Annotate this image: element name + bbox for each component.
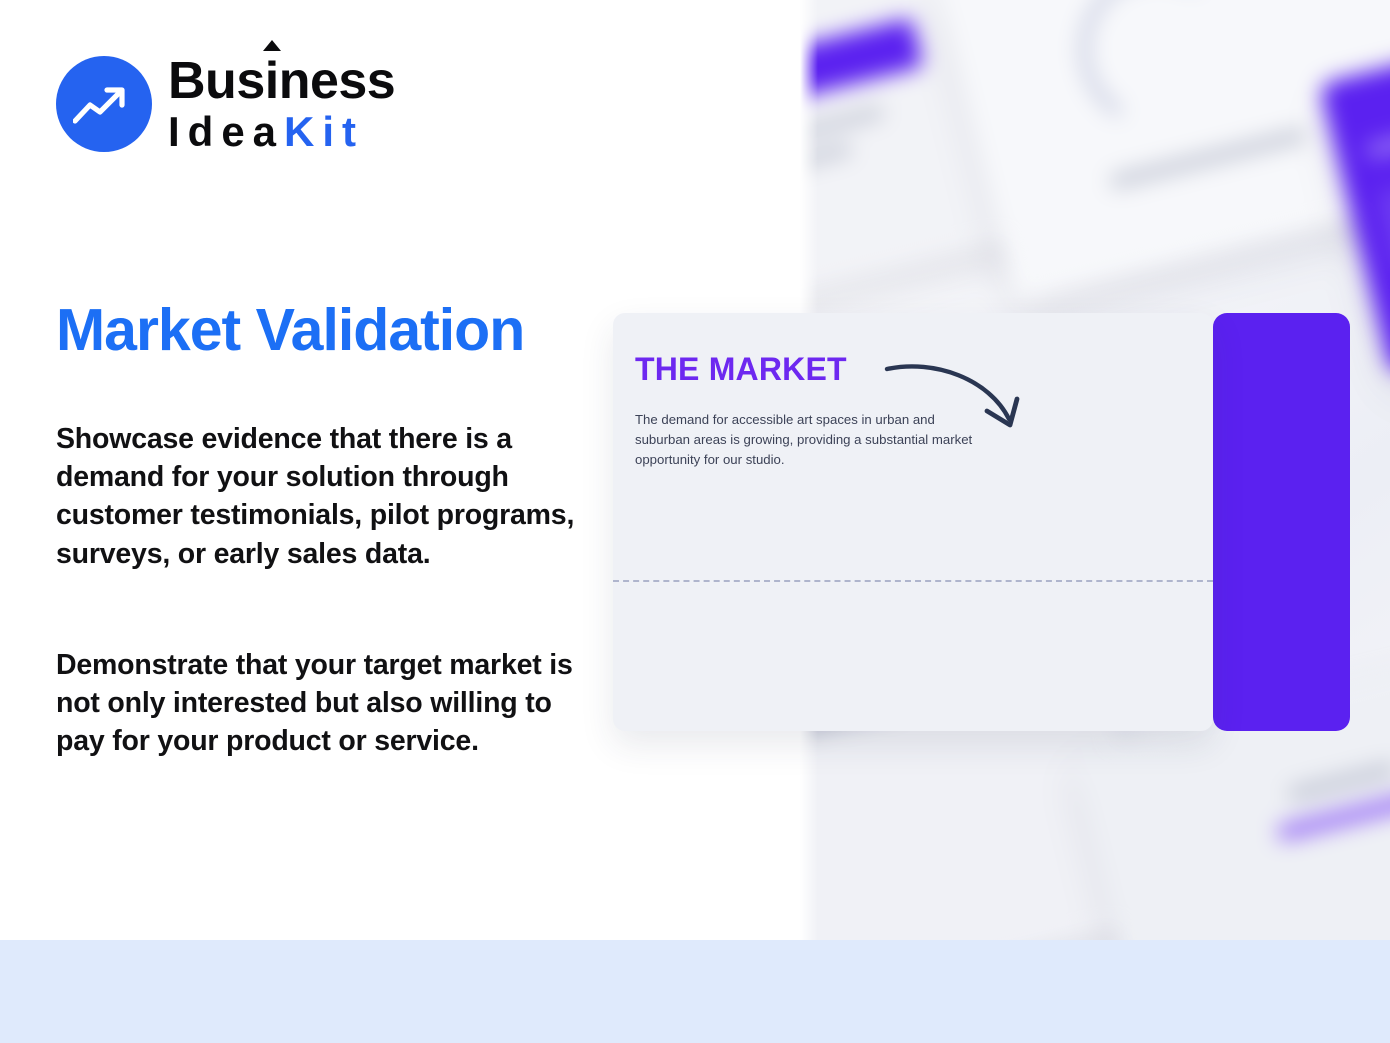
brand-name-line2: IdeaKit: [168, 111, 395, 153]
growth-arrow-icon: [56, 56, 152, 152]
brand-name-line1: Business: [168, 55, 395, 107]
brand-name-kit: Kit: [284, 108, 364, 155]
body-paragraph-1: Showcase evidence that there is a demand…: [56, 420, 576, 573]
page-title: Market Validation: [56, 296, 524, 364]
card-description: The demand for accessible art spaces in …: [635, 410, 980, 470]
brand-wordmark: Business IdeaKit: [168, 55, 395, 153]
card-heading: THE MARKET: [635, 353, 847, 385]
brand-logo[interactable]: Business IdeaKit: [56, 55, 395, 153]
brand-name-idea: Idea: [168, 108, 284, 155]
market-slide-card: THE MARKET The demand for accessible art…: [613, 313, 1213, 731]
body-paragraph-2: Demonstrate that your target market is n…: [56, 646, 576, 761]
background-slide-thumb: [937, 0, 1390, 302]
circumflex-accent-icon: [263, 40, 281, 51]
purple-accent-block: [1213, 313, 1350, 731]
slide-canvas: Business IdeaKit Market Validation Showc…: [0, 0, 1390, 1043]
bottom-accent-strip: [0, 940, 1390, 1043]
market-size-chart: $500,000,000 Total Addressable Market (T…: [613, 493, 1213, 668]
